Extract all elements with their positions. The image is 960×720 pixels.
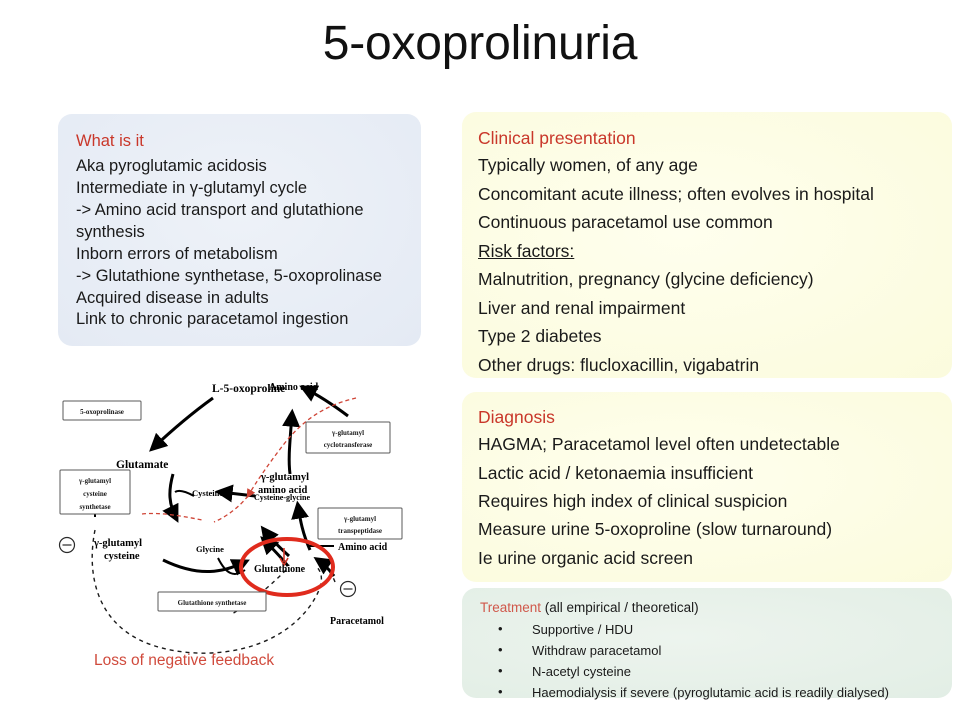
what-is-it-panel: What is it Aka pyroglutamic acidosis Int… xyxy=(58,114,421,346)
what-is-it-heading: What is it xyxy=(76,130,407,154)
risk-factor-4: Other drugs: flucloxacillin, vigabatrin xyxy=(478,351,942,380)
label-paracetamol: Paracetamol xyxy=(330,616,384,627)
risk-factor-2: Liver and renal impairment xyxy=(478,294,942,323)
arrow-gg-cysteine-to-glutathione xyxy=(163,560,245,572)
enzyme-box-glutathione-synthetase: Glutathione synthetase xyxy=(158,592,266,611)
enzyme-glutathione-synthetase-label: Glutathione synthetase xyxy=(178,599,247,607)
treatment-panel: Treatment (all empirical / theoretical) … xyxy=(462,588,952,698)
risk-factor-3: Type 2 diabetes xyxy=(478,322,942,351)
loss-of-negative-feedback-caption: Loss of negative feedback xyxy=(94,652,274,670)
dashed-red-feedback-left xyxy=(142,513,202,520)
label-glycine: Glycine xyxy=(196,544,224,554)
page-title: 5-oxoprolinuria xyxy=(0,18,960,71)
dashed-red-feedback-lower xyxy=(214,496,248,522)
treatment-item: N-acetyl cysteine xyxy=(480,661,942,682)
arrow-gg-amino-acid-to-amino-acid xyxy=(289,414,292,474)
enzyme-transpeptidase-line1: γ-glutamyl xyxy=(343,515,376,523)
inhibition-symbol-left xyxy=(60,538,75,553)
treatment-heading-note: (all empirical / theoretical) xyxy=(541,600,699,615)
enzyme-box-gg-cysteine-synthetase: γ-glutamyl cysteine synthetase xyxy=(60,470,130,514)
diagnosis-line-3: Requires high index of clinical suspicio… xyxy=(478,487,942,515)
enzyme-oxoprolinase-label: 5-oxoprolinase xyxy=(80,408,124,416)
diagnosis-line-1: HAGMA; Paracetamol level often undetecta… xyxy=(478,430,942,458)
enzyme-synthetase-line1: γ-glutamyl xyxy=(78,477,111,485)
label-amino-acid-right: Amino acid xyxy=(338,542,388,553)
gamma-glutamyl-cycle-diagram: 5-oxoprolinase γ-glutamyl cysteine synth… xyxy=(42,370,442,690)
enzyme-box-cyclotransferase: γ-glutamyl cyclotransferase xyxy=(306,422,390,453)
label-gg-amino-acid-line2: amino acid xyxy=(258,485,307,496)
what-is-it-line-3: -> Amino acid transport and glutathione … xyxy=(76,200,407,244)
enzyme-synthetase-line3: synthetase xyxy=(79,503,110,511)
diagnosis-panel: Diagnosis HAGMA; Paracetamol level often… xyxy=(462,392,952,582)
label-cysteine: Cysteine xyxy=(192,488,223,498)
enzyme-box-oxoprolinase: 5-oxoprolinase xyxy=(63,401,141,420)
diagnosis-heading: Diagnosis xyxy=(478,405,942,430)
treatment-heading: Treatment (all empirical / theoretical) xyxy=(480,600,942,615)
treatment-heading-label: Treatment xyxy=(480,600,541,615)
label-amino-acid-top: Amino acid xyxy=(269,382,319,393)
diagnosis-line-5: Ie urine organic acid screen xyxy=(478,544,942,572)
enzyme-cyclotransferase-line2: cyclotransferase xyxy=(324,441,373,449)
clinical-line-1: Typically women, of any age xyxy=(478,151,942,180)
label-gg-cysteine-line2: cysteine xyxy=(104,551,140,562)
enzyme-transpeptidase-line2: transpeptidase xyxy=(338,527,382,535)
enzyme-synthetase-line2: cysteine xyxy=(83,490,107,498)
what-is-it-line-4: Inborn errors of metabolism xyxy=(76,244,407,266)
diagnosis-line-4: Measure urine 5-oxoproline (slow turnaro… xyxy=(478,515,942,543)
clinical-line-3: Continuous paracetamol use common xyxy=(478,208,942,237)
enzyme-cyclotransferase-line1: γ-glutamyl xyxy=(331,429,364,437)
enzyme-box-transpeptidase: γ-glutamyl transpeptidase xyxy=(318,508,402,539)
arrow-glutamate-to-gg-cysteine xyxy=(170,474,176,518)
what-is-it-line-1: Aka pyroglutamic acidosis xyxy=(76,156,407,178)
label-gg-cysteine-line1: γ-glutamyl xyxy=(93,538,142,549)
what-is-it-line-7: Link to chronic paracetamol ingestion xyxy=(76,309,407,331)
clinical-presentation-panel: Clinical presentation Typically women, o… xyxy=(462,112,952,378)
inhibition-symbol-paracetamol xyxy=(341,582,356,597)
diagnosis-line-2: Lactic acid / ketonaemia insufficient xyxy=(478,459,942,487)
what-is-it-line-5: -> Glutathione synthetase, 5-oxoprolinas… xyxy=(76,266,407,288)
label-gg-amino-acid-line1: γ-glutamyl xyxy=(260,472,309,483)
treatment-item: Withdraw paracetamol xyxy=(480,640,942,661)
treatment-item: Haemodialysis if severe (pyroglutamic ac… xyxy=(480,682,942,703)
arrow-oxoproline-to-glutamate xyxy=(153,398,213,448)
clinical-line-2: Concomitant acute illness; often evolves… xyxy=(478,180,942,209)
what-is-it-line-2: Intermediate in γ-glutamyl cycle xyxy=(76,178,407,200)
treatment-item: Supportive / HDU xyxy=(480,619,942,640)
label-glutathione: Glutathione xyxy=(254,564,306,575)
risk-factors-label: Risk factors: xyxy=(478,237,942,266)
treatment-list: Supportive / HDU Withdraw paracetamol N-… xyxy=(480,619,942,703)
clinical-presentation-heading: Clinical presentation xyxy=(478,126,942,151)
what-is-it-line-6: Acquired disease in adults xyxy=(76,288,407,310)
label-glutamate: Glutamate xyxy=(116,459,168,471)
risk-factor-1: Malnutrition, pregnancy (glycine deficie… xyxy=(478,265,942,294)
